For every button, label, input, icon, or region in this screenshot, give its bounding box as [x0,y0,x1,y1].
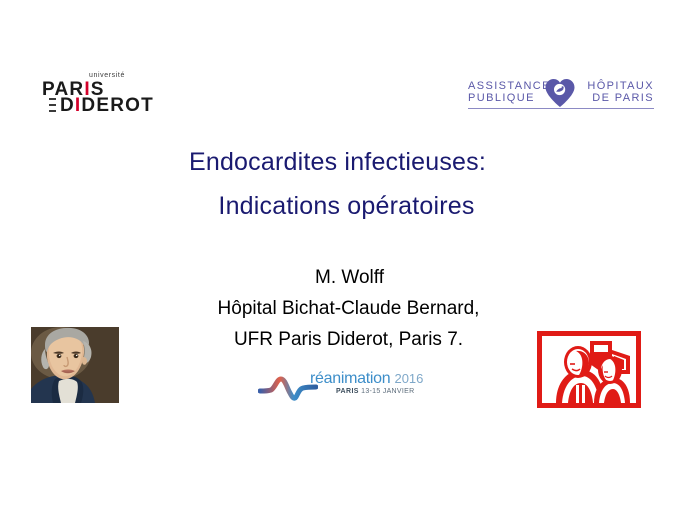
heart-icon [544,78,576,108]
reanimation-subtitle: PARIS 13-15 JANVIER [336,388,414,395]
ecg-wave-icon [258,374,318,402]
reanimation-city: PARIS [336,388,359,395]
reanimation-year: 2016 [394,371,423,386]
aphp-underline [468,108,654,109]
title-line-2: Indications opératoires [0,184,693,228]
aphp-logo: ASSISTANCE PUBLIQUE HÔPITAUX DE PARIS [468,78,654,112]
author-name: M. Wolff [0,262,693,293]
paris-diderot-logo: université PARIS DIDEROT [42,72,177,114]
aphp-de-paris-label: DE PARIS [587,92,654,104]
logo-tick-marks [49,98,56,112]
page-title: Endocardites infectieuses: Indications o… [0,140,693,228]
aphp-hopitaux-label: HÔPITAUX [587,80,654,92]
presentation-slide: université PARIS DIDEROT ASSISTANCE PUBL… [0,0,693,517]
aphp-assistance-label: ASSISTANCE [468,80,551,92]
reanimation-wordmark: réanimation 2016 [310,370,423,387]
aphp-right-text: HÔPITAUX DE PARIS [587,80,654,104]
diderot-text-a: D [60,95,75,116]
reanimation-text: réanimation [310,370,390,387]
hospital-emblem-logo [537,331,641,408]
aphp-publique-label: PUBLIQUE [468,92,551,104]
diderot-wordmark: DIDEROT [60,96,154,115]
author-affiliation-hospital: Hôpital Bichat-Claude Bernard, [0,293,693,324]
title-line-1: Endocardites infectieuses: [0,140,693,184]
diderot-text-b: DEROT [81,95,154,116]
aphp-left-text: ASSISTANCE PUBLIQUE [468,80,551,104]
reanimation-dates: 13-15 JANVIER [361,388,414,395]
reanimation-2016-logo: réanimation 2016 PARIS 13-15 JANVIER [258,370,406,404]
diderot-portrait [31,327,119,403]
universite-label: université [89,72,125,79]
